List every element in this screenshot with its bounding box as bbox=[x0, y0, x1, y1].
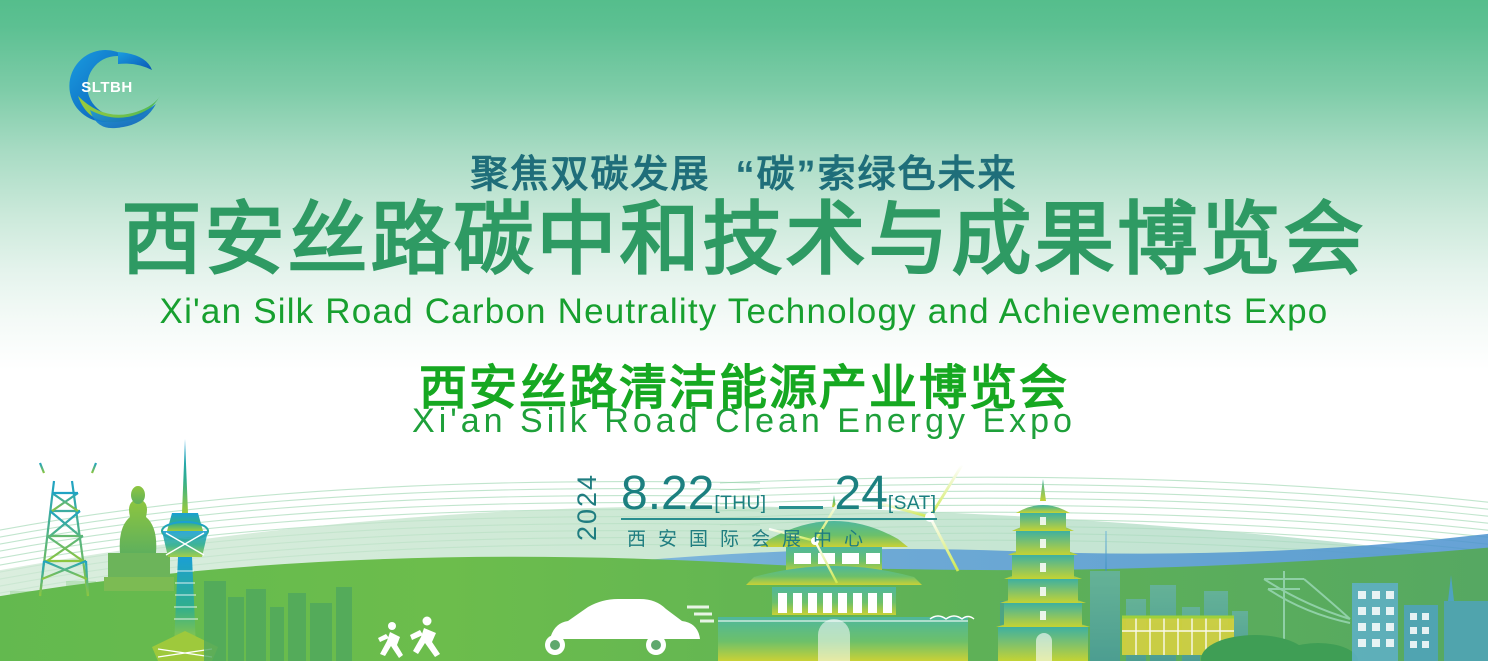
date-start-weekday: [THU] bbox=[714, 493, 766, 515]
secondary-title-english: Xi'an Silk Road Clean Energy Expo bbox=[0, 402, 1488, 441]
event-date-block: 2024 8.22 [THU] 24 [SAT] 西安国际会展中心 bbox=[570, 468, 920, 548]
page-title-english: Xi'an Silk Road Carbon Neutrality Techno… bbox=[0, 292, 1488, 332]
venue-name: 西安国际会展中心 bbox=[621, 518, 937, 551]
logo-swoosh-top bbox=[118, 52, 152, 70]
date-range-dash bbox=[779, 506, 823, 509]
date-range: 8.22 [THU] 24 [SAT] bbox=[621, 468, 937, 520]
page-title: 西安丝路碳中和技术与成果博览会 bbox=[0, 200, 1488, 280]
logo-text: SLTBH bbox=[81, 79, 132, 96]
statue-icon bbox=[104, 486, 174, 591]
sltbh-logo[interactable]: SLTBH bbox=[50, 36, 160, 136]
event-year: 2024 bbox=[570, 468, 603, 546]
date-end-weekday: [SAT] bbox=[888, 493, 937, 515]
tagline: 聚焦双碳发展 “碳”索绿色未来 bbox=[0, 143, 1488, 198]
expo-banner: SLTBH 聚焦双碳发展 “碳”索绿色未来 西安丝路碳中和技术与成果博览会 Xi… bbox=[0, 0, 1488, 661]
date-details: 8.22 [THU] 24 [SAT] 西安国际会展中心 bbox=[621, 468, 937, 548]
date-start: 8.22 bbox=[621, 468, 714, 520]
date-end: 24 bbox=[835, 468, 888, 520]
